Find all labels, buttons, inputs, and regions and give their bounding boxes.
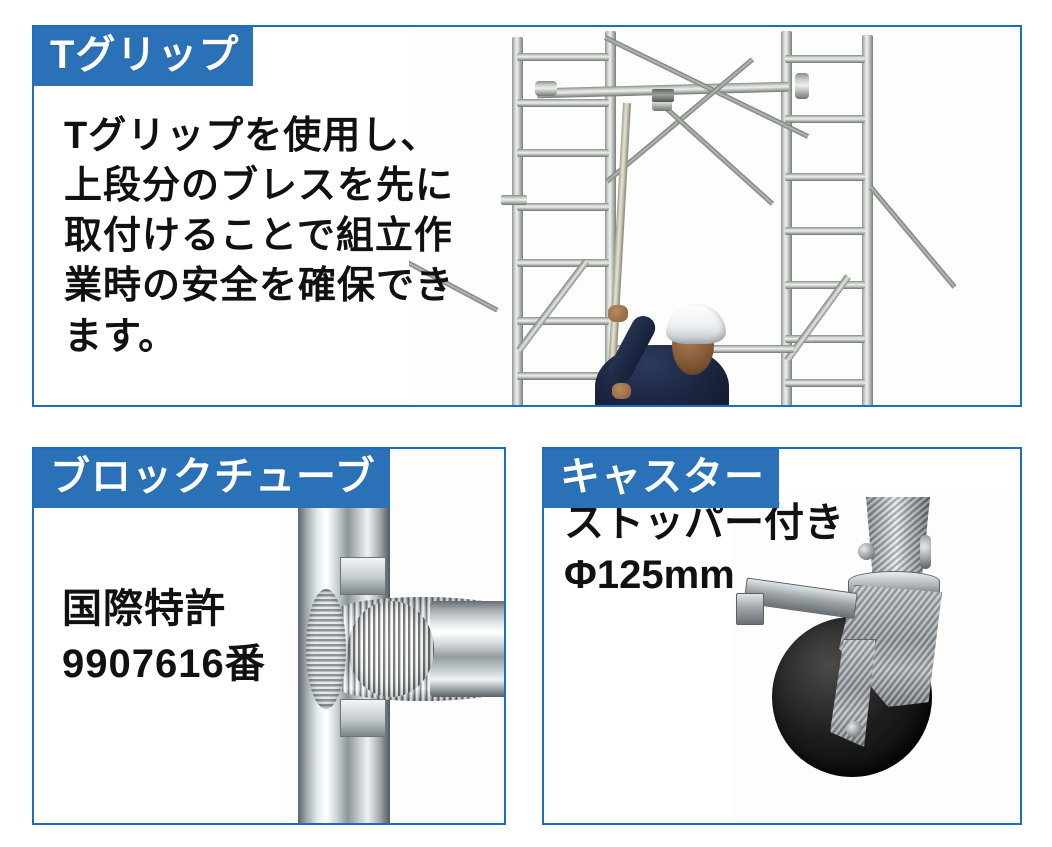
block-tube-fluted-face (348, 601, 434, 697)
panel-tgrip-header: Tグリップ (34, 27, 253, 86)
tube-bracket-upper (340, 557, 386, 595)
tgrip-photo (409, 27, 1020, 405)
scaffold-post-right-outer (862, 35, 873, 405)
scaffold-rung (517, 99, 609, 107)
panel-block-tube: ブロックチューブ 国際特許 9907616番 (32, 447, 506, 825)
panel-caster-body: キャスター ストッパー付き Φ125mm (544, 449, 1020, 823)
panel-tgrip-header-label: Tグリップ (50, 35, 239, 75)
panel-tgrip-body: Tグリップ Tグリップを使用し、上段分のブレスを先に取付けることで組立作業時の安… (34, 27, 1020, 405)
t-grip-head (652, 89, 674, 102)
scaffold-rung (785, 115, 865, 123)
scaffold-rung (517, 259, 609, 267)
panel-caster-header: キャスター (544, 449, 779, 508)
panel-block-tube-header-label: ブロックチューブ (50, 457, 376, 497)
block-tube-patent-text: 国際特許 9907616番 (62, 582, 332, 692)
scaffold-rung (785, 173, 865, 181)
panel-block-tube-body: ブロックチューブ 国際特許 9907616番 (34, 449, 504, 823)
brace-hook-right (795, 73, 809, 99)
tgrip-description: Tグリップを使用し、上段分のブレスを先に取付けることで組立作業時の安全を確保でき… (64, 111, 464, 362)
scaffold-rung (517, 203, 609, 211)
caster-axle-bolt (846, 721, 862, 737)
scaffold-rung (785, 55, 865, 63)
worker-hand-upper (608, 305, 628, 322)
panel-caster-header-label: キャスター (560, 457, 765, 497)
scaffold-rung (785, 227, 865, 235)
panel-block-tube-header: ブロックチューブ (34, 449, 390, 508)
block-tube-arm-extension (430, 601, 504, 697)
scaffold-rung (517, 149, 609, 157)
panel-tgrip: Tグリップ Tグリップを使用し、上段分のブレスを先に取付けることで組立作業時の安… (32, 25, 1022, 407)
brace-hook-left (535, 81, 557, 96)
worker-hand-lower (612, 383, 631, 399)
scaffold-rung (517, 53, 609, 61)
tube-bracket-lower (340, 699, 386, 737)
scaffold-rung (785, 281, 865, 289)
panel-caster: キャスター ストッパー付き Φ125mm (542, 447, 1022, 825)
scaffold-rung (785, 379, 865, 387)
scaffold-outrigger-left-clamp (501, 195, 527, 205)
caster-spec-text: ストッパー付き Φ125mm (564, 497, 894, 601)
scaffold-rung (517, 317, 609, 325)
caster-stem-bolt (920, 535, 931, 569)
